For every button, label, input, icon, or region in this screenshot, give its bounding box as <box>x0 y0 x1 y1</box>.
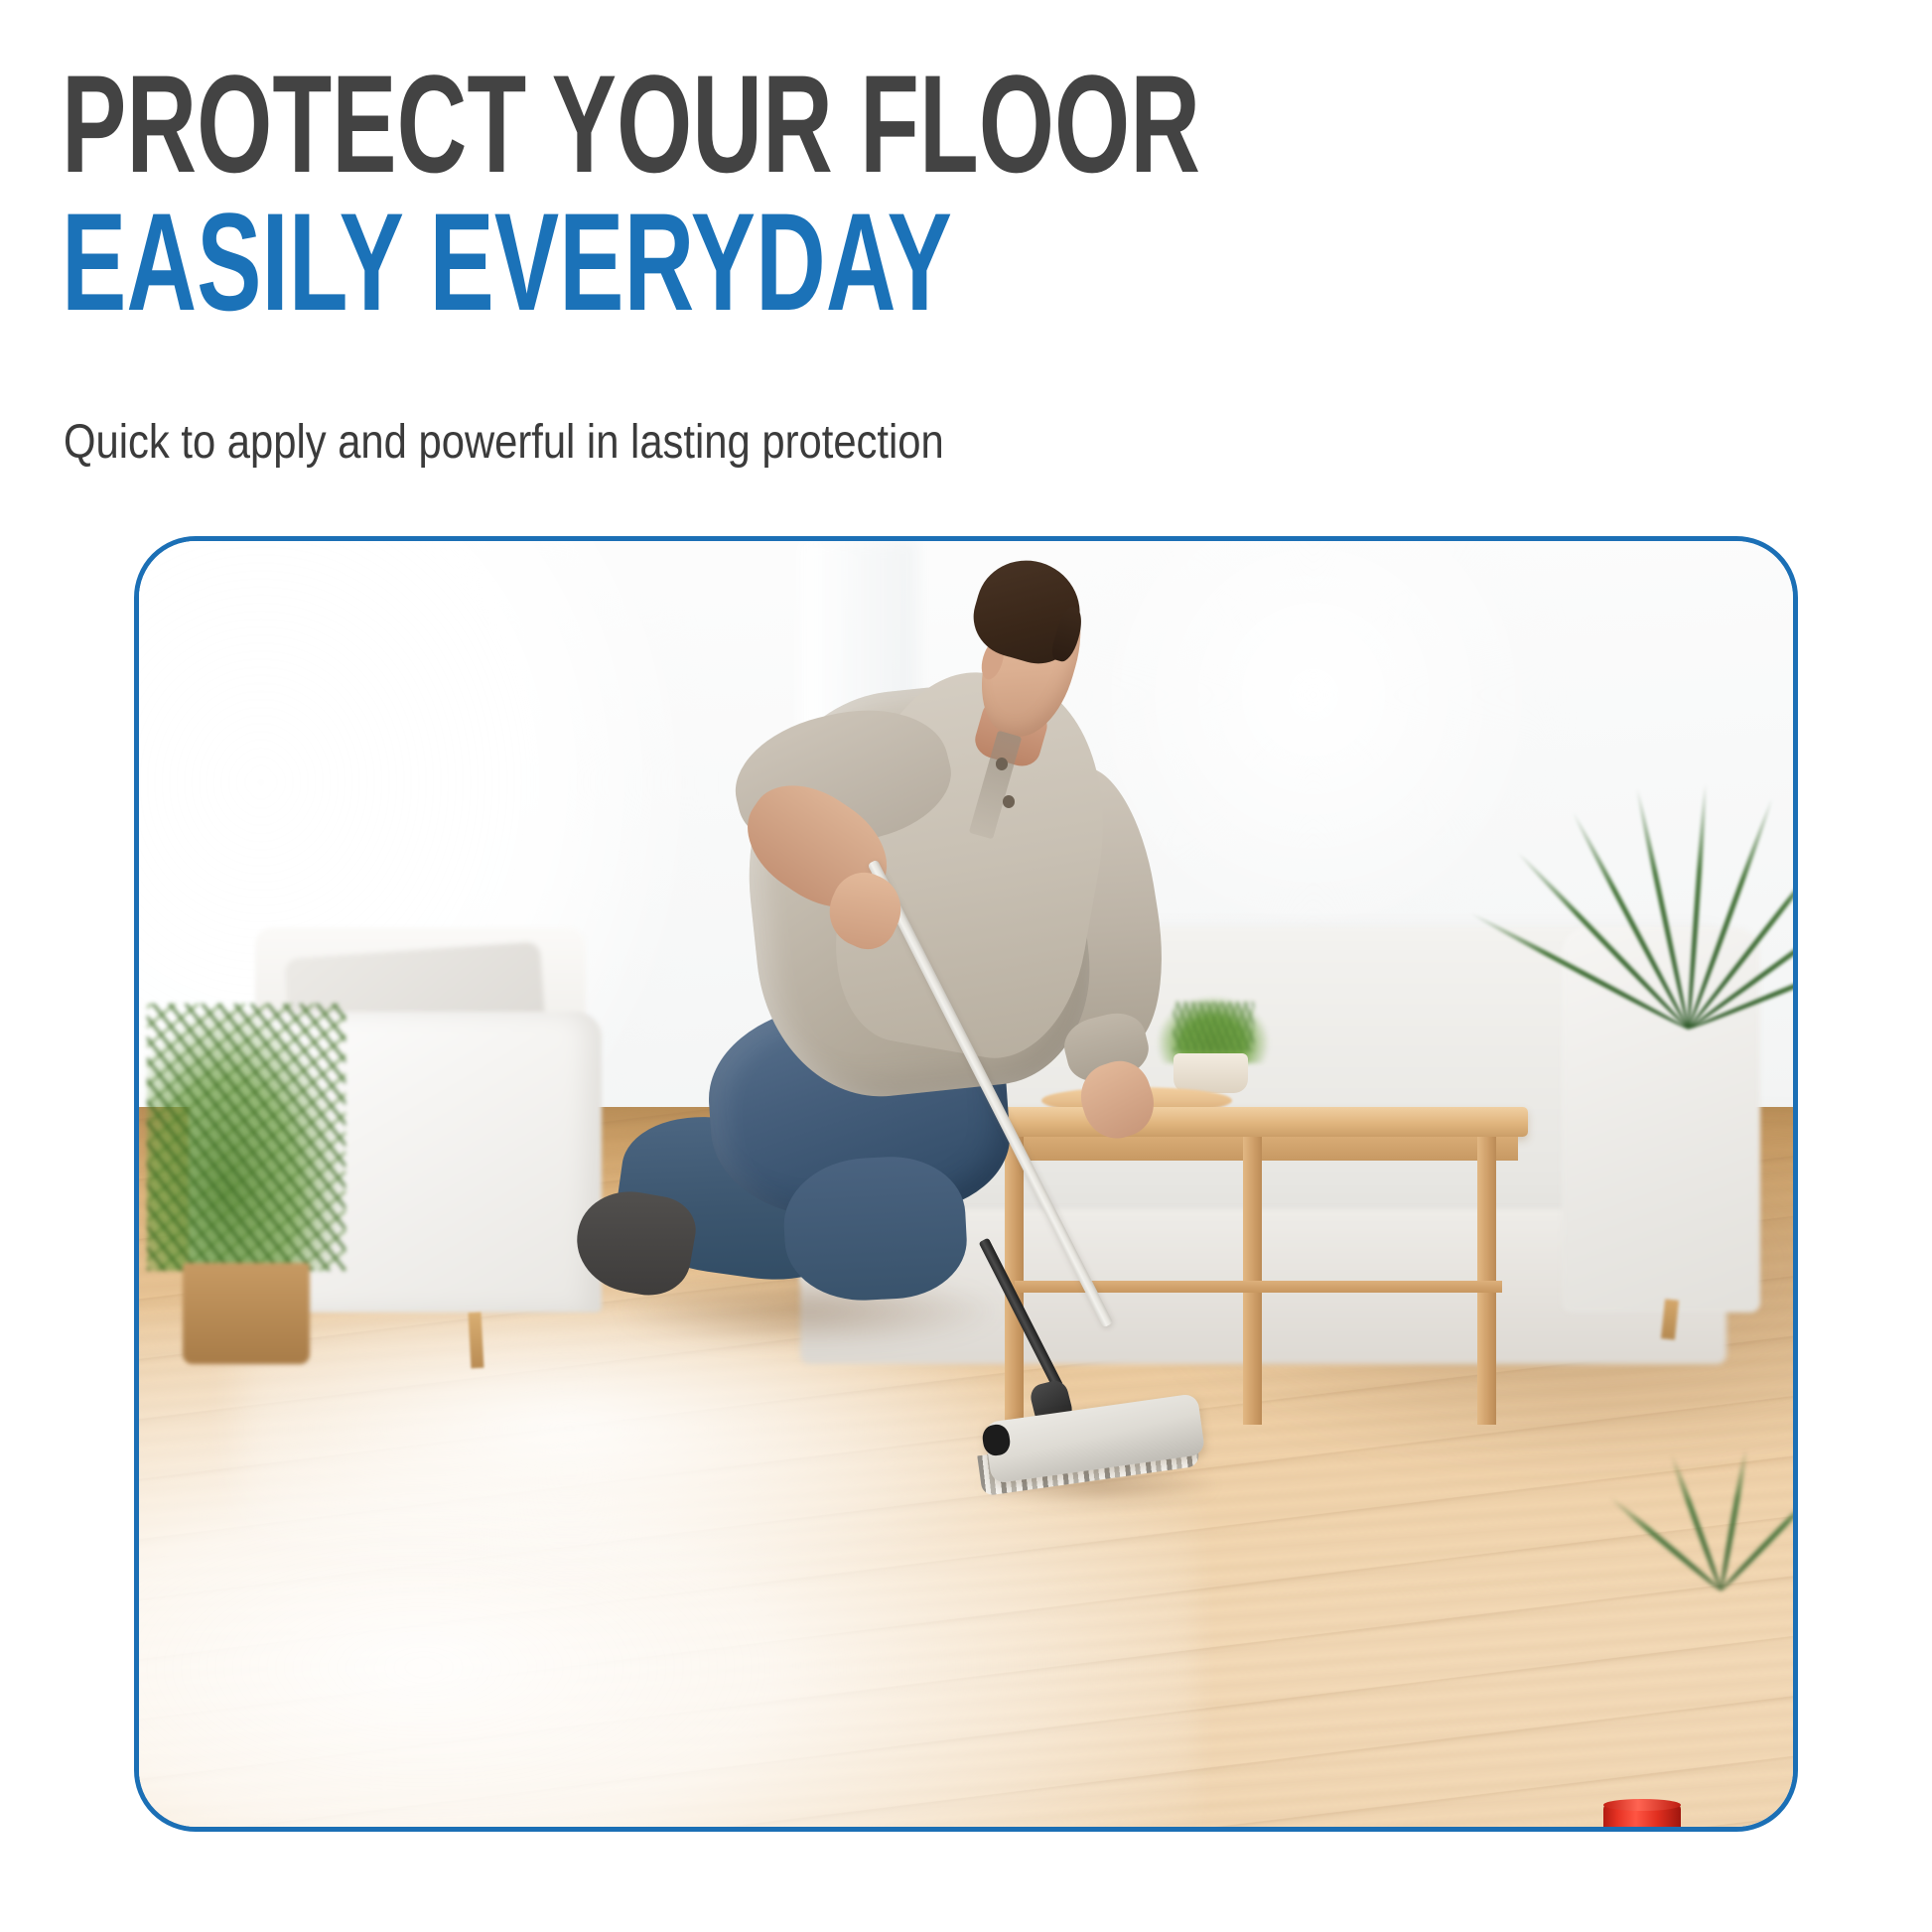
product-bottle[interactable]: Dr. Schutz CLICK SEALER For laminate, wo… <box>1554 1804 1730 1832</box>
palm-frond <box>1686 784 1708 1029</box>
lifestyle-photo-frame: Dr. Schutz CLICK SEALER For laminate, wo… <box>134 536 1798 1832</box>
headline-block: PROTECT YOUR FLOOR EASILY EVERYDAY <box>62 58 1650 328</box>
headline-subtitle: Quick to apply and powerful in lasting p… <box>64 417 944 470</box>
potted-plant-left <box>147 1004 345 1364</box>
palm-plant-right-lower <box>1611 1364 1793 1621</box>
bottle-cap-top <box>1603 1799 1681 1811</box>
product-poster: PROTECT YOUR FLOOR EASILY EVERYDAY Quick… <box>0 0 1932 1932</box>
person-mopping <box>569 554 1396 1736</box>
plant-basket <box>183 1263 310 1364</box>
headline-line-2: EASILY EVERYDAY <box>62 196 1173 328</box>
living-room-scene <box>139 541 1793 1827</box>
shirt-button <box>1003 795 1015 808</box>
plant-leaves <box>147 1004 345 1270</box>
palm-frond <box>1634 788 1690 1029</box>
headline-line-1: PROTECT YOUR FLOOR <box>62 58 1173 190</box>
palm-plant-right <box>1562 644 1793 1081</box>
